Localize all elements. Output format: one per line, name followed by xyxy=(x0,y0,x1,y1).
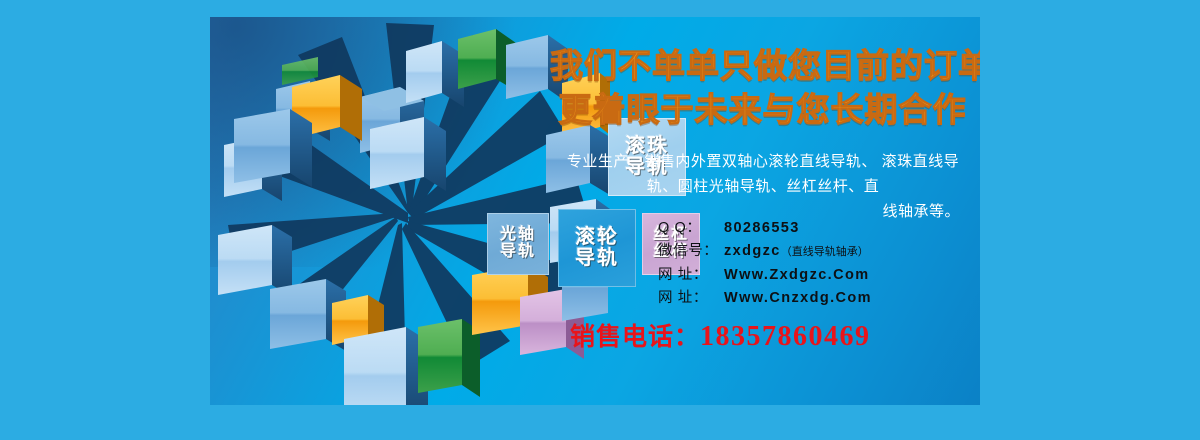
contact-label-website-1: 网 址： xyxy=(658,264,724,287)
contact-value-wechat: zxdgzc xyxy=(724,243,781,259)
contact-label-qq: Q Q： xyxy=(658,217,724,240)
contact-row-website-1: 网 址：Www.Zxdgzc.Com xyxy=(658,264,872,287)
contact-row-wechat: 微信号：zxdgzc（直线导轨轴承） xyxy=(658,240,872,264)
contact-information: Q Q：80286553 微信号：zxdgzc（直线导轨轴承） 网 址：Www.… xyxy=(658,217,872,310)
promotional-banner: 滚珠 导轨 光轴 导轨 滚轮 导轨 丝杠 丝杆 我们不单单只做您目前的订单 更着… xyxy=(210,17,980,405)
sales-phone-label: 销售电话： xyxy=(570,323,700,351)
contact-label-website-2: 网 址： xyxy=(658,287,724,310)
contact-row-website-2: 网 址：Www.Cnzxdg.Com xyxy=(658,287,872,310)
contact-label-wechat: 微信号： xyxy=(658,240,724,263)
sales-phone: 销售电话：18357860469 xyxy=(570,317,871,353)
description-line-1: 专业生产、销售内外置双轴心滚轮直线导轨、 xyxy=(567,153,877,170)
contact-value-website-1[interactable]: Www.Zxdgzc.Com xyxy=(724,267,870,283)
cube-label-line1: 光轴 xyxy=(500,227,536,244)
contact-value-website-2[interactable]: Www.Cnzxdg.Com xyxy=(724,290,872,306)
contact-row-qq: Q Q：80286553 xyxy=(658,217,872,240)
product-description: 专业生产、销售内外置双轴心滚轮直线导轨、 滚珠直线导轨、圆柱光轴导轨、丝杠丝杆、… xyxy=(558,149,968,224)
contact-note-wechat: （直线导轨轴承） xyxy=(781,246,869,258)
banner-text-column: 我们不单单只做您目前的订单 更着眼于未来与您长期合作 专业生产、销售内外置双轴心… xyxy=(540,17,980,405)
cube-label-line2: 导轨 xyxy=(500,244,536,261)
contact-value-qq: 80286553 xyxy=(724,220,800,236)
headline-line-1: 我们不单单只做您目前的订单 xyxy=(550,49,975,82)
headline-line-2: 更着眼于未来与您长期合作 xyxy=(550,93,975,126)
sales-phone-number: 18357860469 xyxy=(700,321,871,352)
